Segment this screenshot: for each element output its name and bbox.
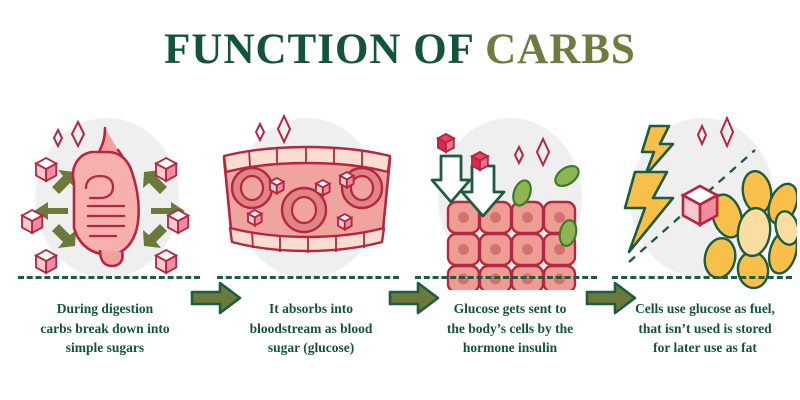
step-1-caption: During digestion carbs break down into s… [16,299,194,358]
caption-line: bloodstream as blood [222,319,400,339]
page-title: FUNCTION OF CARBS [0,28,800,71]
blood-vessel-icon [212,110,402,290]
caption-line: carbs break down into [16,319,194,339]
fat-cells-energy-icon [607,110,797,290]
digestive-system-icon [12,110,202,290]
caption-line: hormone insulin [420,338,600,358]
caption-line: sugar (glucose) [222,338,400,358]
page-title-part-2: CARBS [485,26,636,73]
step-4-caption: Cells use glucose as fuel, that isn’t us… [615,299,795,358]
sugar-cube [683,186,717,225]
page-title-part-1: FUNCTION OF [164,26,485,73]
body-cells-icon [410,110,600,290]
step-2-illustration [212,110,402,290]
caption-line: simple sugars [16,338,194,358]
step-2-caption: It absorbs into bloodstream as blood sug… [222,299,400,358]
step-3-caption: Glucose gets sent to the body’s cells by… [420,299,600,358]
infographic-root: FUNCTION OF CARBS [0,0,800,400]
step-4-illustration [607,110,797,290]
caption-line: that isn’t used is stored [615,319,795,339]
divider-1 [18,276,200,279]
divider-4 [612,276,792,279]
caption-line: Cells use glucose as fuel, [615,299,795,319]
step-1-illustration [12,110,202,290]
step-3-illustration [410,110,600,290]
caption-line: During digestion [16,299,194,319]
caption-line: It absorbs into [222,299,400,319]
divider-3 [415,276,597,279]
divider-2 [217,276,399,279]
caption-line: the body’s cells by the [420,319,600,339]
caption-line: Glucose gets sent to [420,299,600,319]
caption-line: for later use as fat [615,338,795,358]
